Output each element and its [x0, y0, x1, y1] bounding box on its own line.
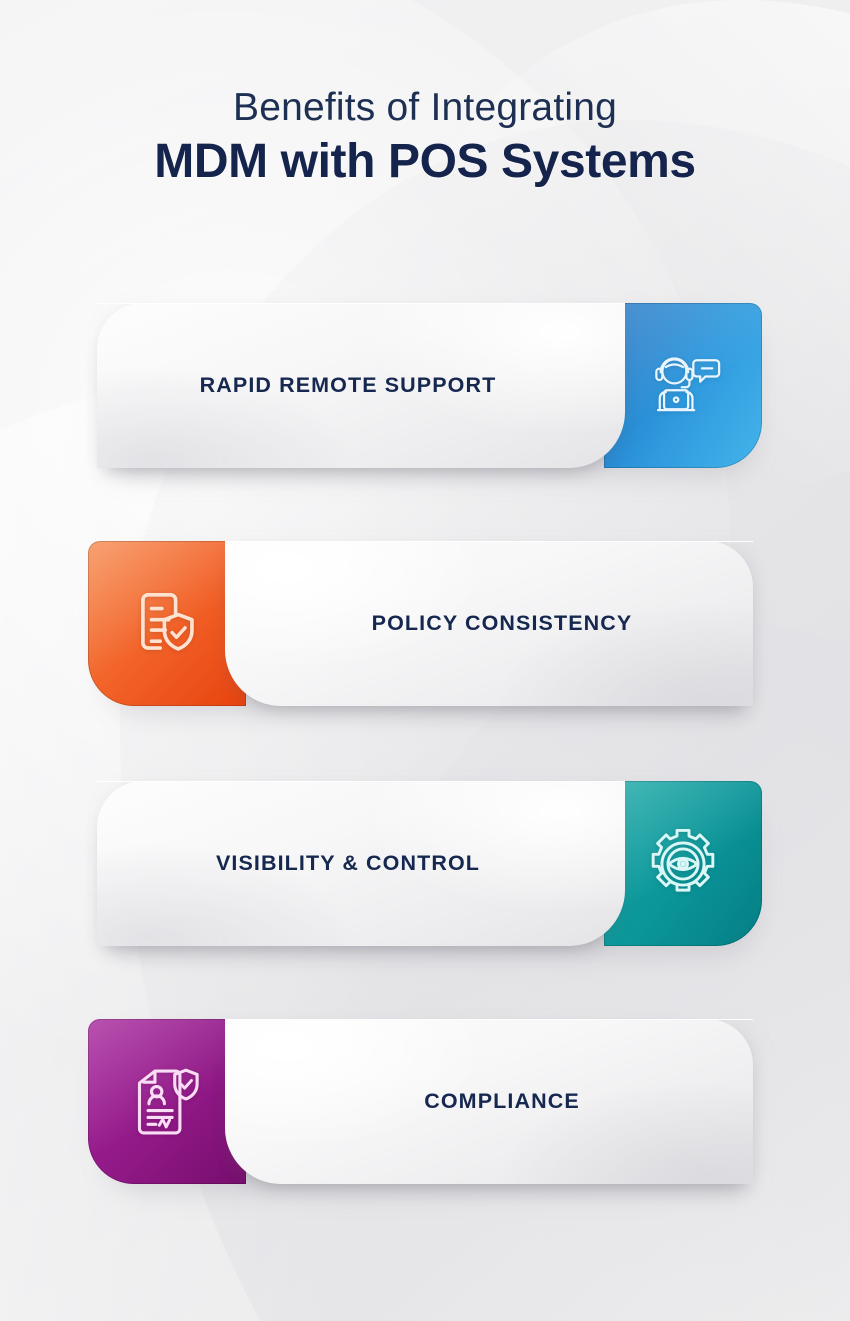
benefit-card-compliance[interactable]: COMPLIANCE	[88, 1019, 753, 1184]
document-person-shield-chart-icon	[124, 1059, 210, 1145]
title-line-2: MDM with POS Systems	[0, 134, 850, 191]
card-label: VISIBILITY & CONTROL	[97, 781, 625, 946]
card-label: POLICY CONSISTENCY	[225, 541, 753, 706]
document-shield-check-icon	[124, 581, 210, 667]
benefit-card-visibility-and-control[interactable]: VISIBILITY & CONTROL	[97, 781, 762, 946]
support-agent-headset-icon	[640, 343, 726, 429]
gear-eye-icon	[640, 821, 726, 907]
benefit-card-rapid-remote-support[interactable]: RAPID REMOTE SUPPORT	[97, 303, 762, 468]
title-line-1: Benefits of Integrating	[0, 86, 850, 130]
card-label: RAPID REMOTE SUPPORT	[97, 303, 625, 468]
card-label: COMPLIANCE	[225, 1019, 753, 1184]
page-header: Benefits of Integrating MDM with POS Sys…	[0, 86, 850, 190]
benefit-card-policy-consistency[interactable]: POLICY CONSISTENCY	[88, 541, 753, 706]
